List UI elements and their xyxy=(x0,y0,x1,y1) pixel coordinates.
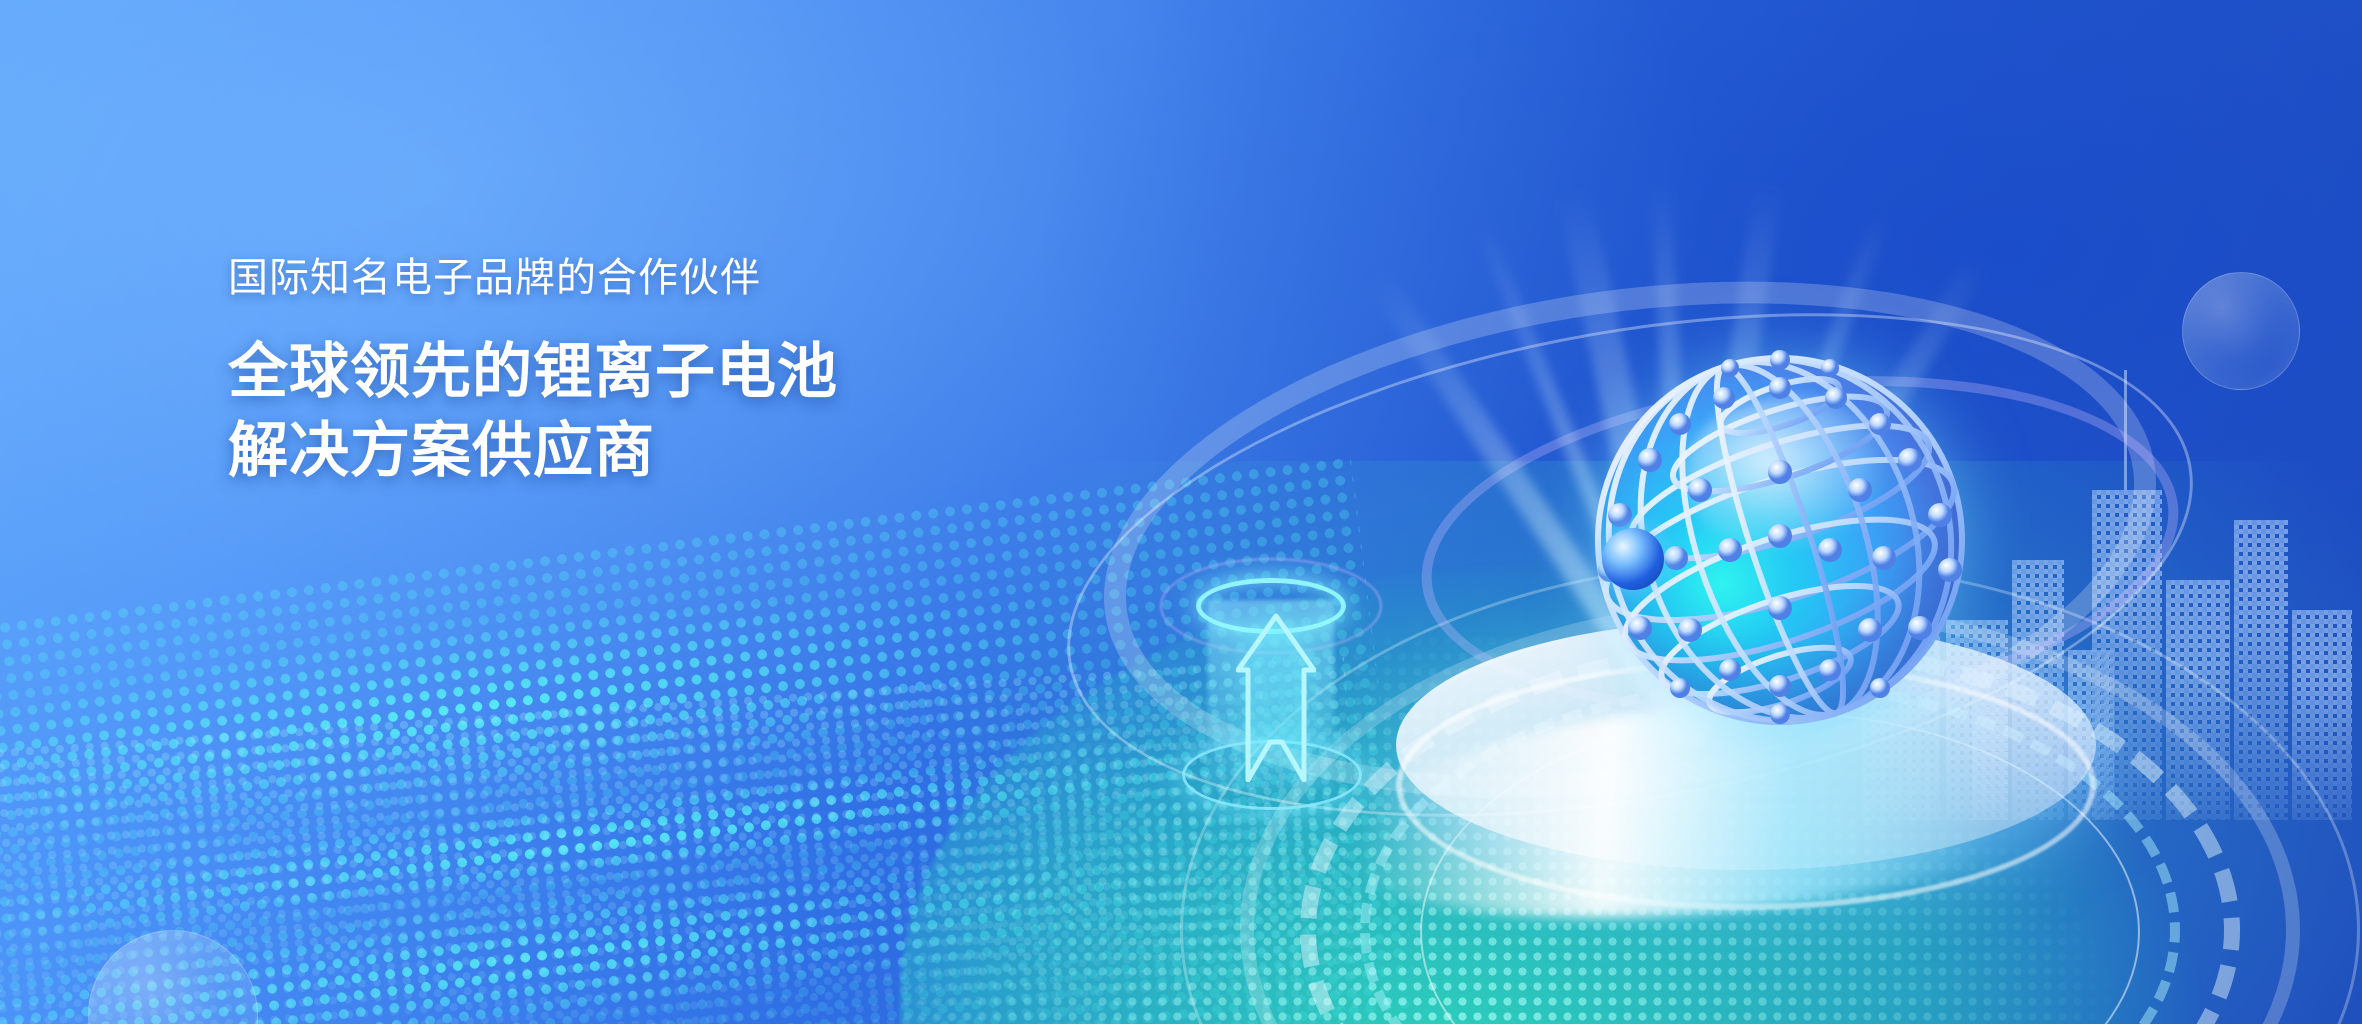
hero-copy: 国际知名电子品牌的合作伙伴 全球领先的锂离子电池 解决方案供应商 xyxy=(228,258,1128,490)
hero-banner: 国际知名电子品牌的合作伙伴 全球领先的锂离子电池 解决方案供应商 xyxy=(0,0,2362,1024)
headline-line-2: 解决方案供应商 xyxy=(228,411,1128,490)
orbit-node-sphere xyxy=(1602,528,1664,590)
cursor-arrow-icon xyxy=(1236,612,1316,782)
page-title: 全球领先的锂离子电池 解决方案供应商 xyxy=(228,332,1128,490)
wireframe-globe xyxy=(1580,340,1980,740)
eyebrow-text: 国际知名电子品牌的合作伙伴 xyxy=(228,258,1128,298)
bubble-top-right xyxy=(2182,272,2300,390)
headline-line-1: 全球领先的锂离子电池 xyxy=(228,332,1128,411)
